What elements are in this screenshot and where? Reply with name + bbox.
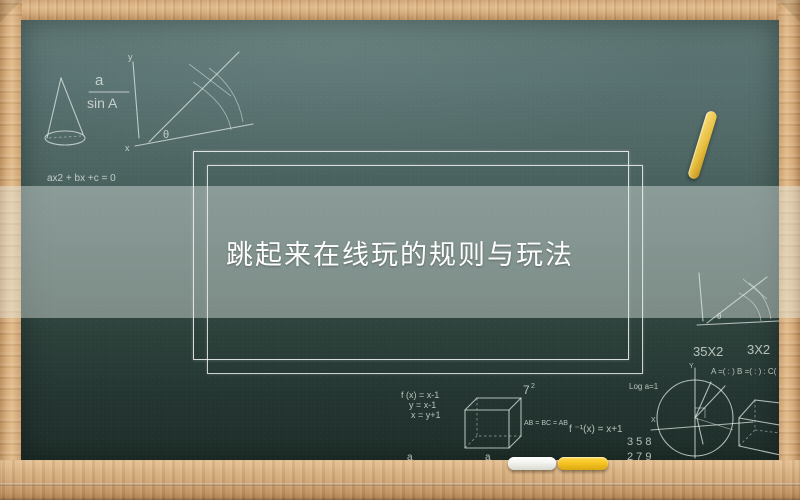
chalk-text-7: 7 — [523, 383, 530, 397]
chalk-text-theta: θ — [163, 129, 169, 141]
chalk-text-a-2: a — [407, 452, 413, 460]
chalk-drawing-function-and-cube: f (x) = x-1 y = x-1 x = y+1 7 2 a sin A — [399, 380, 559, 460]
chalk-text-axis-x: x — [125, 143, 130, 153]
chalk-text-fx-2: y = x-1 — [409, 400, 436, 410]
frame-corner-top-right — [778, 0, 800, 22]
chalk-tray-lip — [0, 483, 800, 486]
chalk-drawing-cube-right — [733, 388, 779, 460]
chalk-text-midsegment-group: AB = BC = AB — [524, 415, 594, 431]
chalk-text-quadratic: ax2 + bx +c = 0 — [47, 173, 116, 184]
chalk-text-3x2-group: 3X2 — [747, 340, 779, 360]
chalk-text-digits-1: 3 5 8 — [627, 436, 651, 448]
chalk-text-a: a — [95, 72, 104, 89]
chalk-text-inverse: f ⁻¹(x) = x+1 — [569, 424, 623, 435]
chalk-text-7-exp: 2 — [531, 383, 535, 390]
chalk-stick-yellow — [558, 457, 608, 470]
chalk-text-35x2-group: 35X2 — [693, 342, 741, 362]
chalk-text-log-a: Log a=1 — [629, 382, 659, 391]
frame-corner-top-left — [0, 0, 22, 22]
chalk-text-matrix-group: A =( : ) B =( : ) : C( : ) — [711, 362, 779, 380]
chalk-text-sin-a: sin A — [87, 95, 118, 111]
chalk-text-axis-y: y — [128, 52, 133, 62]
chalk-text-fx-3: x = y+1 — [411, 410, 441, 420]
chalk-text-matrix: A =( : ) B =( : ) : C( : ) — [711, 367, 779, 376]
chalk-drawing-unit-circle: Y X — [649, 360, 759, 460]
title-overlay-band: 跳起来在线玩的规则与玩法 — [0, 186, 800, 318]
chalk-drawing-inverse-and-digits: f ⁻¹(x) = x+1 3 5 8 2 7 9 6 3 7 alog (bc… — [569, 420, 679, 460]
chalk-text-log-group: Log a=1 — [629, 378, 689, 394]
chalk-stick-white — [508, 457, 556, 470]
blackboard-banner: a sin A y x θ ax2 + bx +c = 0 — [0, 0, 800, 500]
chalk-text-a-3: a — [485, 452, 491, 460]
chalk-text-fx-1: f (x) = x-1 — [401, 390, 439, 400]
chalk-text-3x2: 3X2 — [747, 342, 770, 357]
chalk-text-circle-x: X — [651, 417, 656, 424]
chalk-stick-diagonal — [687, 110, 718, 180]
frame-top-rail — [0, 0, 800, 20]
page-title: 跳起来在线玩的规则与玩法 — [226, 233, 574, 272]
chalk-tray — [0, 460, 800, 500]
chalk-text-circle-y: Y — [689, 363, 694, 370]
chalk-text-midsegment: AB = BC = AB — [524, 420, 568, 427]
chalk-text-digits-2: 2 7 9 — [627, 451, 651, 460]
chalk-text-35x2: 35X2 — [693, 344, 723, 359]
